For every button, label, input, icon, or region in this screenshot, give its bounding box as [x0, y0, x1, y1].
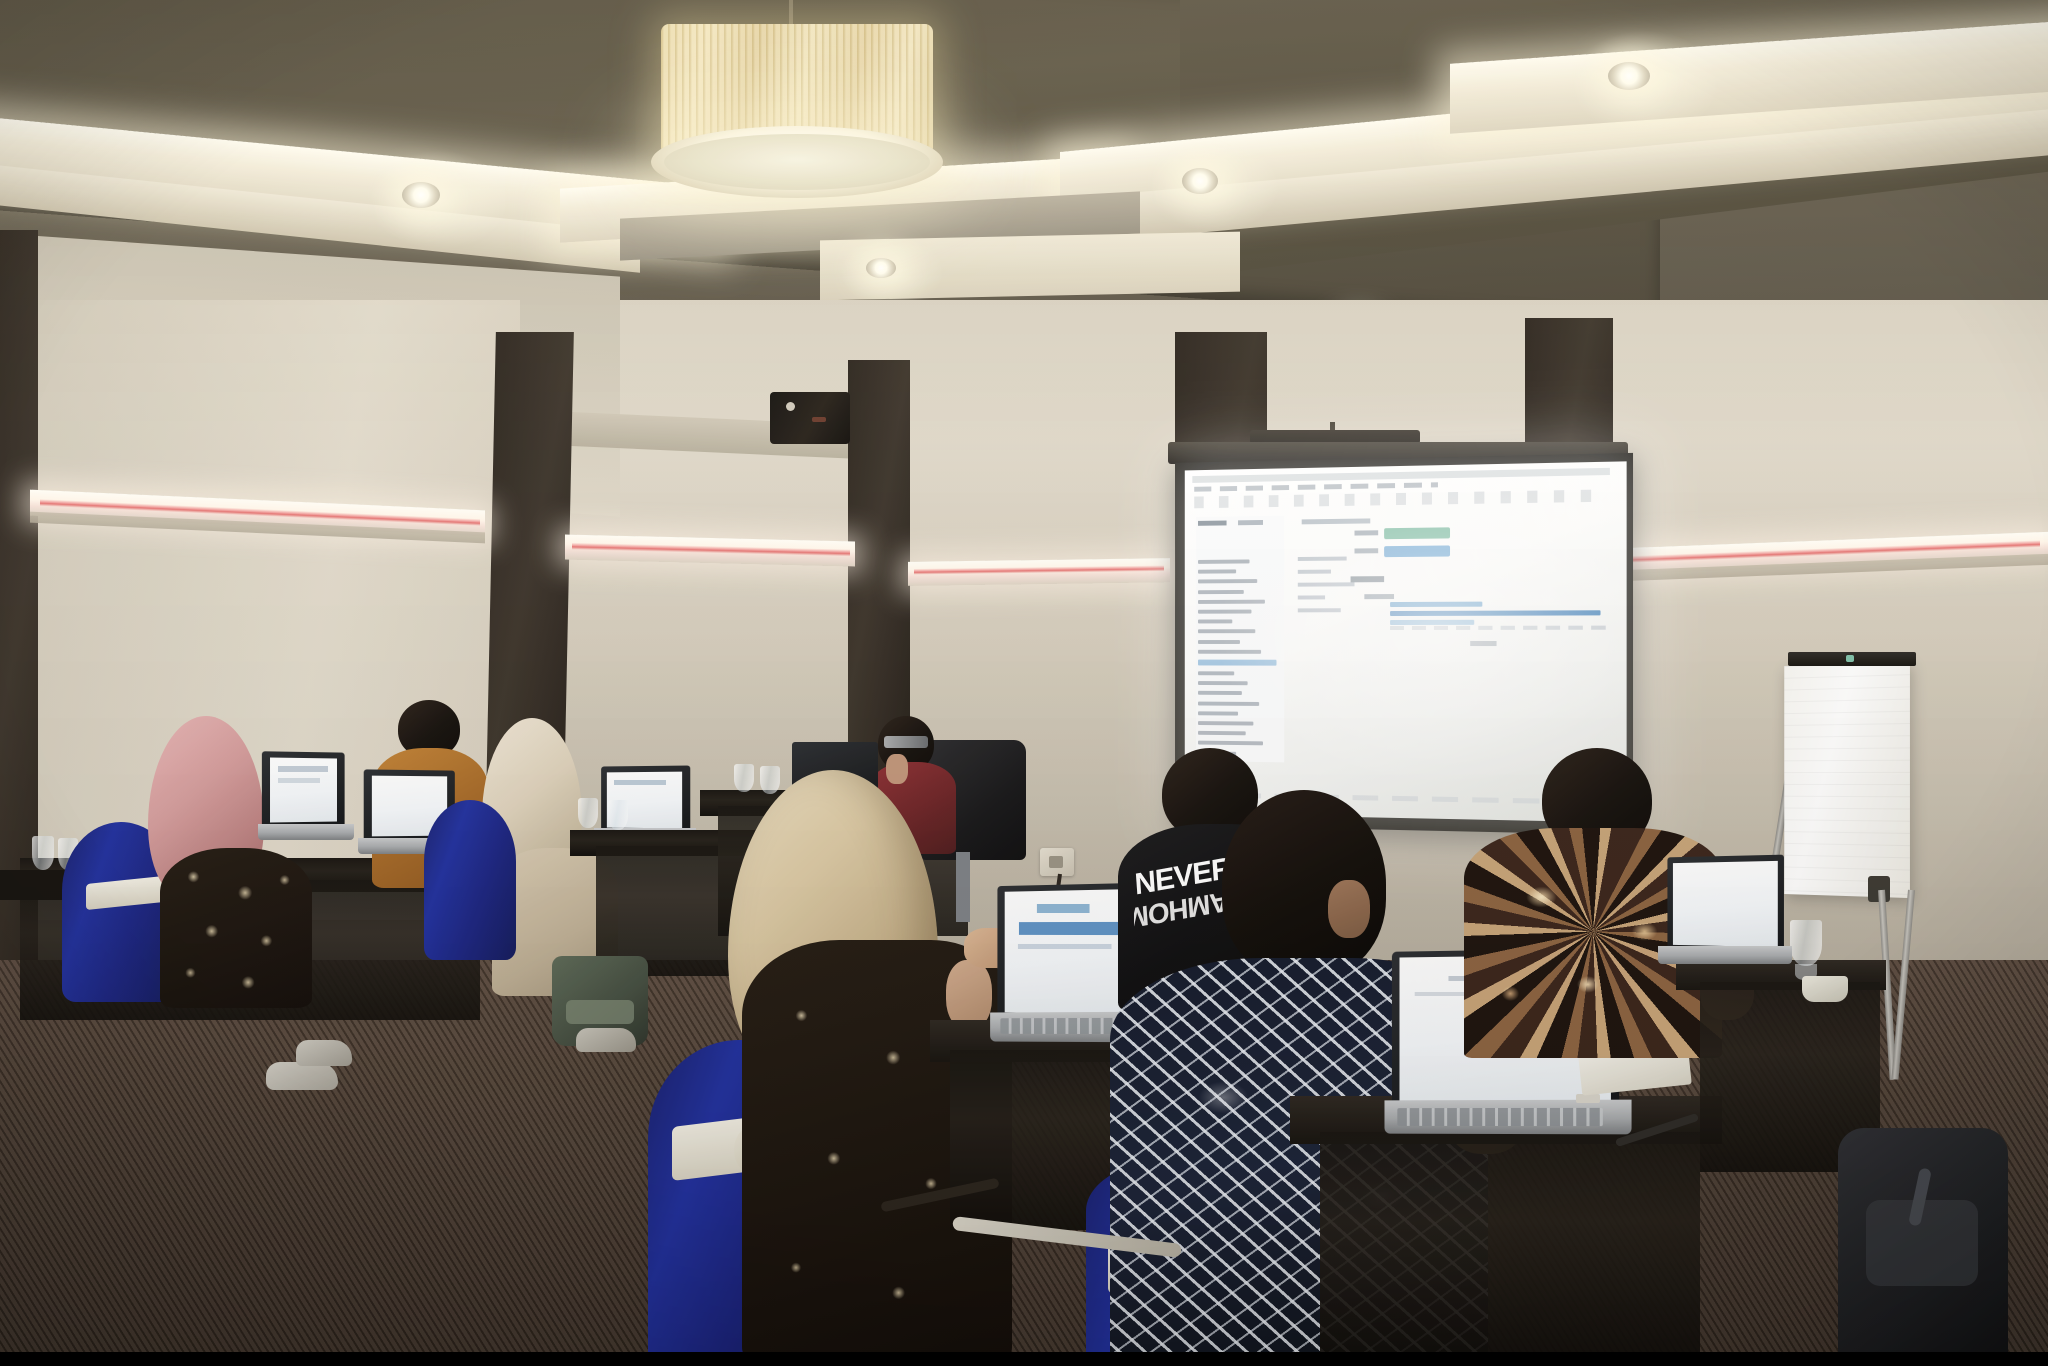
- laptop-p3-screen-row: [614, 780, 666, 785]
- training-room-photo: NEVER ® JAMHOM: [0, 0, 2048, 1366]
- table-foreground-center-body: [1320, 1132, 1700, 1366]
- person-p1-torso: [160, 848, 312, 1008]
- person-p7-ear: [1328, 880, 1370, 938]
- laptop-p1-base: [258, 824, 354, 840]
- laptop-p1-screen-row-2: [278, 778, 320, 783]
- wall-speaker-icon: [770, 392, 850, 444]
- pendant-lamp-diffuser: [664, 134, 930, 190]
- downlight-icon-2: [1182, 168, 1218, 194]
- water-glass-4: [608, 800, 628, 830]
- water-glass-5: [734, 764, 754, 792]
- office-chair-p4-stem: [956, 852, 970, 922]
- hp-logo-badge: [1576, 1094, 1600, 1103]
- speaker-led-icon: [786, 402, 795, 411]
- downlight-icon-1: [402, 182, 440, 208]
- chair-cover-p3: [424, 800, 516, 960]
- downlight-icon-3: [1608, 62, 1650, 90]
- person-p4-eyeglasses-icon: [884, 736, 928, 748]
- downlight-icon-4: [866, 258, 896, 278]
- flipchart-clip-icon: [1846, 655, 1854, 662]
- laptop-p5-row-3: [1018, 944, 1112, 949]
- water-glass-7: [1790, 920, 1822, 966]
- backpack-left-pocket: [566, 1000, 634, 1024]
- downlight-glow-1: [370, 150, 510, 250]
- water-glass-3: [578, 798, 598, 828]
- water-glass-6: [760, 766, 780, 794]
- bottom-letterbox: [0, 1352, 2048, 1366]
- shoe-mid: [576, 1028, 636, 1052]
- wall-outlet-socket-icon: [1049, 856, 1063, 868]
- laptop-p7-keyboard: [1397, 1108, 1603, 1126]
- coffee-cup: [1802, 976, 1848, 1002]
- laptop-p1-screen-row-1: [278, 766, 328, 772]
- shoe-left: [266, 1062, 338, 1090]
- laptop-p8-screen: [1673, 861, 1778, 947]
- flipchart-paper-texture: [1784, 662, 1910, 898]
- shoe-right: [296, 1040, 352, 1066]
- laptop-p8-base: [1658, 946, 1792, 964]
- water-glass-1: [32, 836, 54, 870]
- speaker-badge: [812, 417, 826, 422]
- laptop-p5-bar-1: [1037, 904, 1090, 913]
- person-p4-hand: [886, 754, 908, 784]
